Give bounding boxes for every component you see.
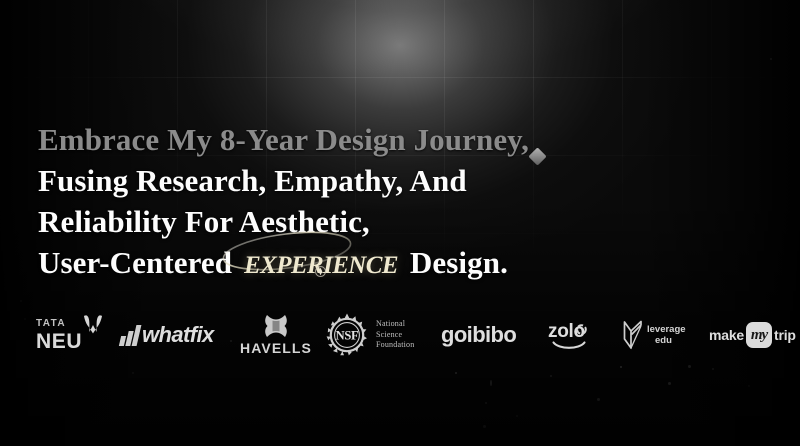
smile-icon — [552, 341, 586, 350]
logo-goibibo[interactable]: goibibo — [441, 306, 516, 364]
headline-line-3: Reliability For Aesthetic, — [38, 201, 738, 242]
headline-line-2: Fusing Research, Empathy, And — [38, 160, 738, 201]
experience-highlight: EXPERIENCE — [236, 242, 406, 286]
hourglass-icon — [263, 314, 289, 338]
logo-zolo[interactable]: zolo — [548, 306, 585, 364]
logo-leverage-edu[interactable]: leverage edu — [622, 306, 686, 364]
hero-section: Embrace My 8-Year Design Journey, Fusing… — [0, 0, 800, 446]
nsf-fullname: National Science Foundation — [376, 319, 414, 351]
havells-label: HAVELLS — [240, 340, 312, 356]
nsf-seal-icon: NSF — [325, 313, 369, 357]
gear-icon — [575, 323, 588, 336]
mmt-my-label: my — [751, 327, 767, 344]
mmt-make-label: make — [709, 327, 744, 343]
leverage-edu-label: leverage edu — [647, 324, 686, 346]
logo-tata-neu[interactable]: TATA NEU — [36, 306, 82, 364]
headline-line-1: Embrace My 8-Year Design Journey, — [38, 119, 738, 160]
check-pen-icon — [622, 320, 643, 350]
sparkle-diamond-icon — [315, 266, 326, 277]
neu-label: NEU — [36, 331, 82, 352]
logo-whatfix[interactable]: whatfix — [120, 306, 214, 364]
headline-line-4-after: Design. — [410, 245, 508, 280]
tata-label: TATA — [36, 319, 82, 329]
mmt-trip-label: trip — [774, 327, 796, 343]
goibibo-label: goibibo — [441, 322, 516, 348]
client-logo-row: TATA NEU whatfix HAVELLS — [0, 306, 800, 364]
nsf-line-1: National — [376, 319, 405, 328]
nsf-line-3: Foundation — [376, 340, 414, 349]
mmt-my-box: my — [746, 322, 772, 348]
whatfix-label: whatfix — [142, 322, 214, 348]
logo-havells[interactable]: HAVELLS — [240, 306, 312, 364]
hero-headline: Embrace My 8-Year Design Journey, Fusing… — [38, 119, 738, 286]
headline-line-4-before: User-Centered — [38, 245, 232, 280]
svg-text:NSF: NSF — [336, 329, 359, 343]
heart-n-icon — [81, 312, 105, 336]
logo-makemytrip[interactable]: make my trip — [709, 306, 796, 364]
bars-icon — [120, 325, 139, 346]
headline-line-4: User-CenteredEXPERIENCEDesign. — [38, 242, 738, 286]
edu-word: edu — [647, 335, 686, 346]
logo-nsf[interactable]: NSF National Science Foundation — [325, 306, 414, 364]
leverage-word: leverage — [647, 324, 686, 335]
nsf-line-2: Science — [376, 330, 402, 339]
